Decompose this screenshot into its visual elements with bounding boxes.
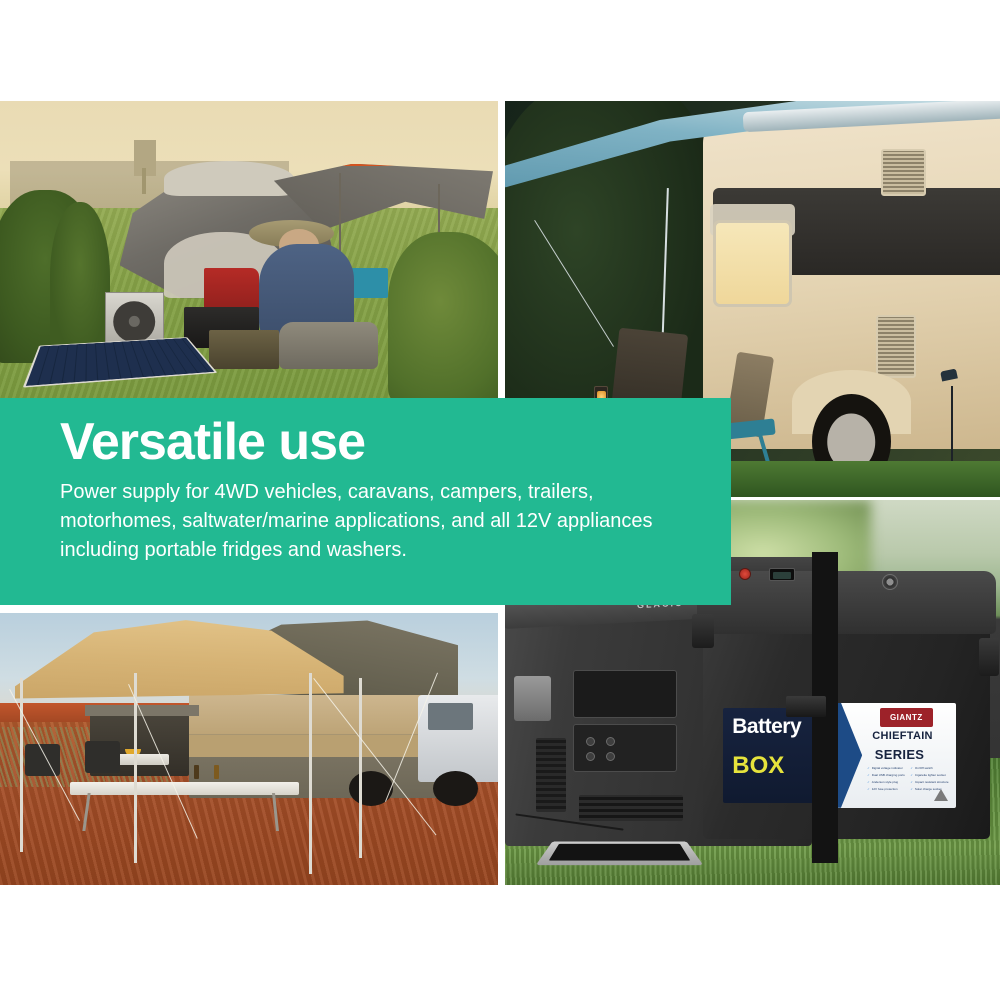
brand-logo: GIANTZ bbox=[880, 708, 933, 727]
caravan-vent-lower bbox=[876, 315, 916, 378]
strap-buckle bbox=[786, 696, 826, 717]
folding-table bbox=[70, 782, 299, 796]
fridge-up-button[interactable] bbox=[606, 737, 615, 746]
awning-pole-4 bbox=[359, 678, 362, 858]
battery-box-lid bbox=[697, 571, 996, 633]
blue-cooler bbox=[349, 268, 389, 298]
battery-label-text: Battery bbox=[732, 715, 801, 739]
recycle-triangle-icon bbox=[934, 789, 948, 801]
banner-heading: Versatile use bbox=[60, 416, 703, 468]
fan-hub bbox=[129, 316, 140, 327]
product-lifestyle-collage: GLACIO Battery B bbox=[0, 0, 1000, 1000]
cigarette-socket[interactable] bbox=[882, 574, 898, 590]
fridge-side-vent bbox=[536, 738, 567, 812]
power-box bbox=[209, 330, 279, 369]
camp-chair-right bbox=[85, 741, 120, 774]
water-tower bbox=[134, 140, 156, 176]
feature-item: Digital voltage indicator bbox=[867, 766, 907, 772]
fridge-bottom-vent bbox=[579, 795, 683, 821]
feature-item: Cigarette lighter socket bbox=[910, 773, 950, 779]
fridge-set-button[interactable] bbox=[586, 752, 595, 761]
hedge-left-2 bbox=[50, 202, 110, 357]
versatile-use-banner: Versatile use Power supply for 4WD vehic… bbox=[0, 398, 731, 605]
tent-roof bbox=[164, 161, 293, 197]
feature-item: Impact resistant structure bbox=[910, 780, 950, 786]
awning-pole-3 bbox=[309, 673, 312, 874]
feature-item: Dual USB charging ports bbox=[867, 773, 907, 779]
caravan-window bbox=[713, 220, 792, 307]
canvas-band bbox=[189, 735, 438, 757]
series-line-1: CHIEFTAIN bbox=[872, 730, 933, 742]
fan-blades-icon bbox=[114, 301, 156, 342]
series-line-2: SERIES bbox=[875, 747, 924, 762]
awning-pole-1 bbox=[20, 678, 23, 852]
fridge-power-button[interactable] bbox=[586, 737, 595, 746]
caravan-vent-upper bbox=[881, 149, 926, 197]
camp-chair-left bbox=[25, 744, 60, 777]
vehicle-window bbox=[428, 703, 473, 730]
product-spec-label: GIANTZ CHIEFTAIN SERIES Digital voltage … bbox=[829, 703, 955, 808]
battery-box-handle-left[interactable] bbox=[692, 614, 715, 647]
fridge-control-panel bbox=[573, 724, 677, 772]
camping-solar-photo bbox=[0, 101, 498, 399]
fridge-handle bbox=[514, 676, 551, 722]
outback-camper-photo bbox=[0, 613, 498, 885]
feature-item: 12V fuse protection bbox=[867, 787, 907, 793]
voltage-meter-display bbox=[769, 568, 795, 581]
feature-item: On/Off switch bbox=[910, 766, 950, 772]
fridge-down-button[interactable] bbox=[606, 752, 615, 761]
fridge-spec-plate bbox=[573, 670, 677, 718]
vehicle-wheel bbox=[433, 771, 478, 806]
person-legs bbox=[279, 322, 379, 370]
battery-box: Battery BOX GIANTZ CHIEFTAIN SERIES Digi… bbox=[703, 600, 990, 839]
bottle bbox=[214, 765, 219, 779]
bush-right bbox=[388, 232, 498, 399]
box-label-text: BOX bbox=[732, 752, 784, 780]
battery-box-handle-right[interactable] bbox=[979, 638, 999, 676]
banner-description: Power supply for 4WD vehicles, caravans,… bbox=[60, 478, 670, 565]
bottle bbox=[194, 765, 199, 779]
feature-item: Anderson style plug bbox=[867, 780, 907, 786]
battery-terminal-knob[interactable] bbox=[739, 568, 751, 580]
solar-blanket-tablet bbox=[535, 842, 702, 866]
trailer-wheel bbox=[349, 771, 394, 806]
